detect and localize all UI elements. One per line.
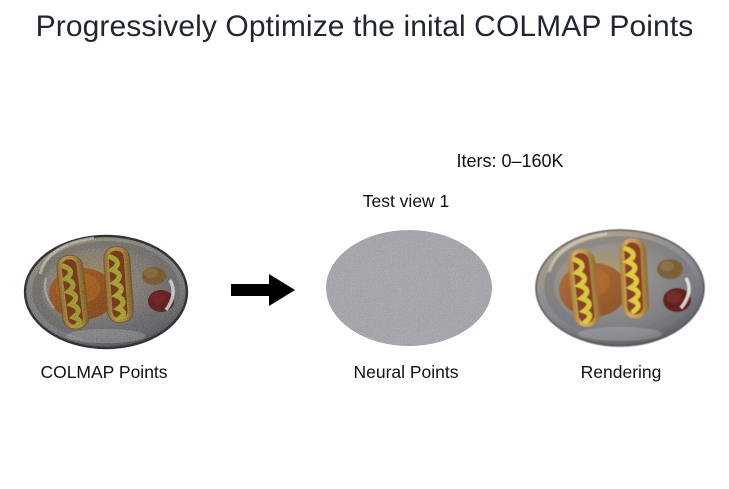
- caption-colmap-points: COLMAP Points: [4, 362, 204, 382]
- figure-rendering: [531, 222, 709, 354]
- caption-neural-points: Neural Points: [306, 362, 506, 382]
- test-view-label: Test view 1: [306, 191, 506, 212]
- page-title: Progressively Optimize the inital COLMAP…: [0, 4, 729, 49]
- rendering-image: [531, 222, 709, 354]
- neural-points-image: [322, 224, 496, 352]
- figure-neural-points: [322, 224, 496, 352]
- colmap-points-image: [20, 228, 192, 354]
- caption-rendering: Rendering: [521, 362, 721, 382]
- slide-canvas: Progressively Optimize the inital COLMAP…: [0, 0, 729, 489]
- figure-colmap-points: [20, 228, 192, 354]
- iters-label: Iters: 0–160K: [410, 150, 610, 172]
- right-arrow-icon: [229, 272, 297, 308]
